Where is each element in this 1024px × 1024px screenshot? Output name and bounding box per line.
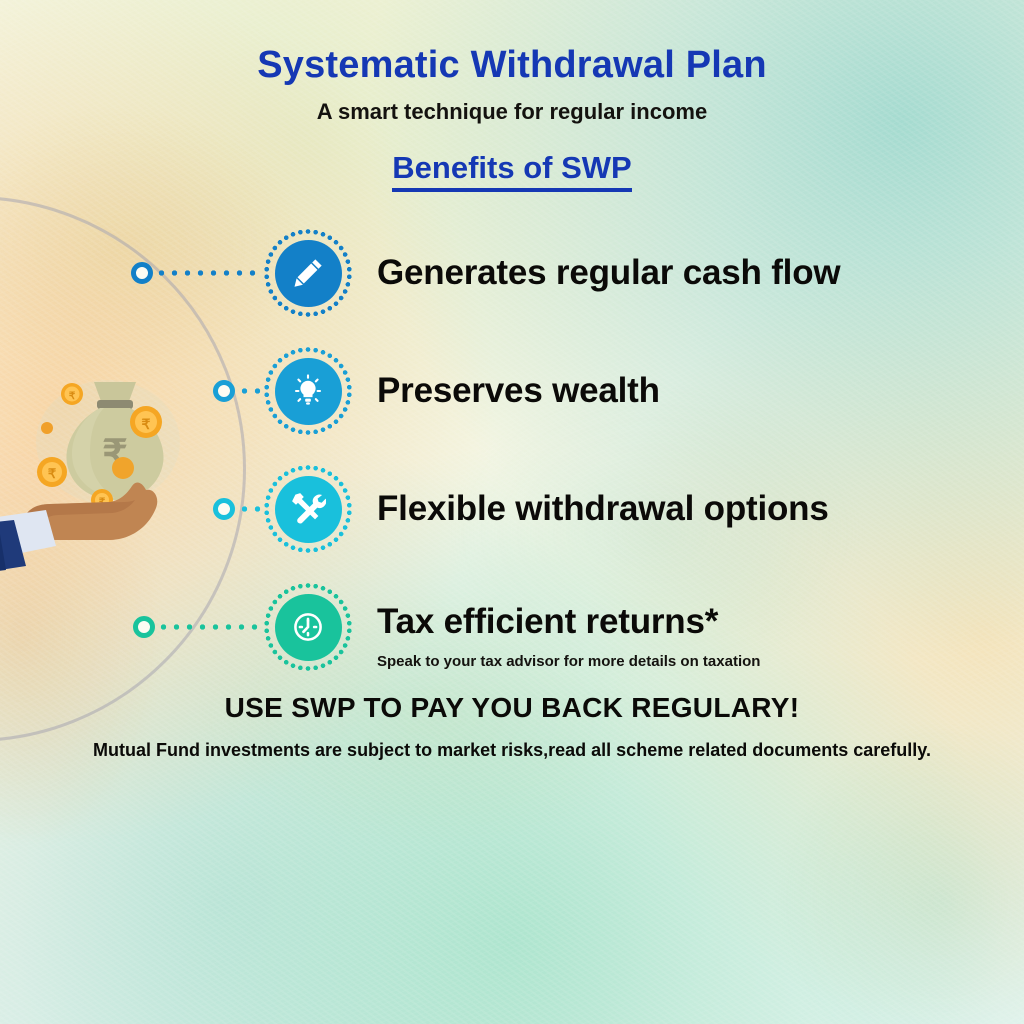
benefit-row[interactable]: Flexible withdrawal options	[0, 450, 1024, 568]
benefit-label: Preserves wealth	[377, 371, 660, 411]
tools-icon	[275, 476, 342, 543]
section-heading: Benefits of SWP	[0, 150, 1024, 186]
benefit-row[interactable]: Preserves wealth	[0, 332, 1024, 450]
connector-dotted-line	[238, 388, 263, 394]
benefit-label: Flexible withdrawal options	[377, 489, 829, 529]
benefit-row[interactable]: Tax efficient returns*Speak to your tax …	[0, 568, 1024, 686]
benefits-list: Generates regular cash flowPreserves wea…	[0, 214, 1024, 686]
connector-dotted-line	[238, 506, 263, 512]
benefit-icon-badge[interactable]	[263, 582, 353, 672]
connector-node	[213, 498, 235, 520]
connector-node	[213, 380, 235, 402]
disclaimer-text: Mutual Fund investments are subject to m…	[0, 740, 1024, 761]
connector-dotted-line	[155, 270, 260, 276]
poster-subtitle: A smart technique for regular income	[0, 99, 1024, 125]
poster-canvas: ₹ ₹ ₹ ₹ ₹	[0, 0, 1024, 1024]
benefit-footnote: Speak to your tax advisor for more detai…	[377, 653, 760, 670]
poster-title: Systematic Withdrawal Plan	[0, 44, 1024, 87]
benefit-label: Generates regular cash flow	[377, 253, 840, 293]
benefit-icon-badge[interactable]	[263, 228, 353, 318]
pencil-icon	[275, 240, 342, 307]
benefit-icon-badge[interactable]	[263, 464, 353, 554]
benefit-label: Tax efficient returns*	[377, 602, 718, 642]
section-heading-text: Benefits of SWP	[392, 150, 631, 192]
connector-node	[131, 262, 153, 284]
benefit-row[interactable]: Generates regular cash flow	[0, 214, 1024, 332]
connector-node	[133, 616, 155, 638]
clock-icon	[275, 594, 342, 661]
connector-dotted-line	[157, 624, 261, 630]
call-to-action: USE SWP TO PAY YOU BACK REGULARY!	[0, 692, 1024, 724]
benefit-icon-badge[interactable]	[263, 346, 353, 436]
lightbulb-icon	[275, 358, 342, 425]
